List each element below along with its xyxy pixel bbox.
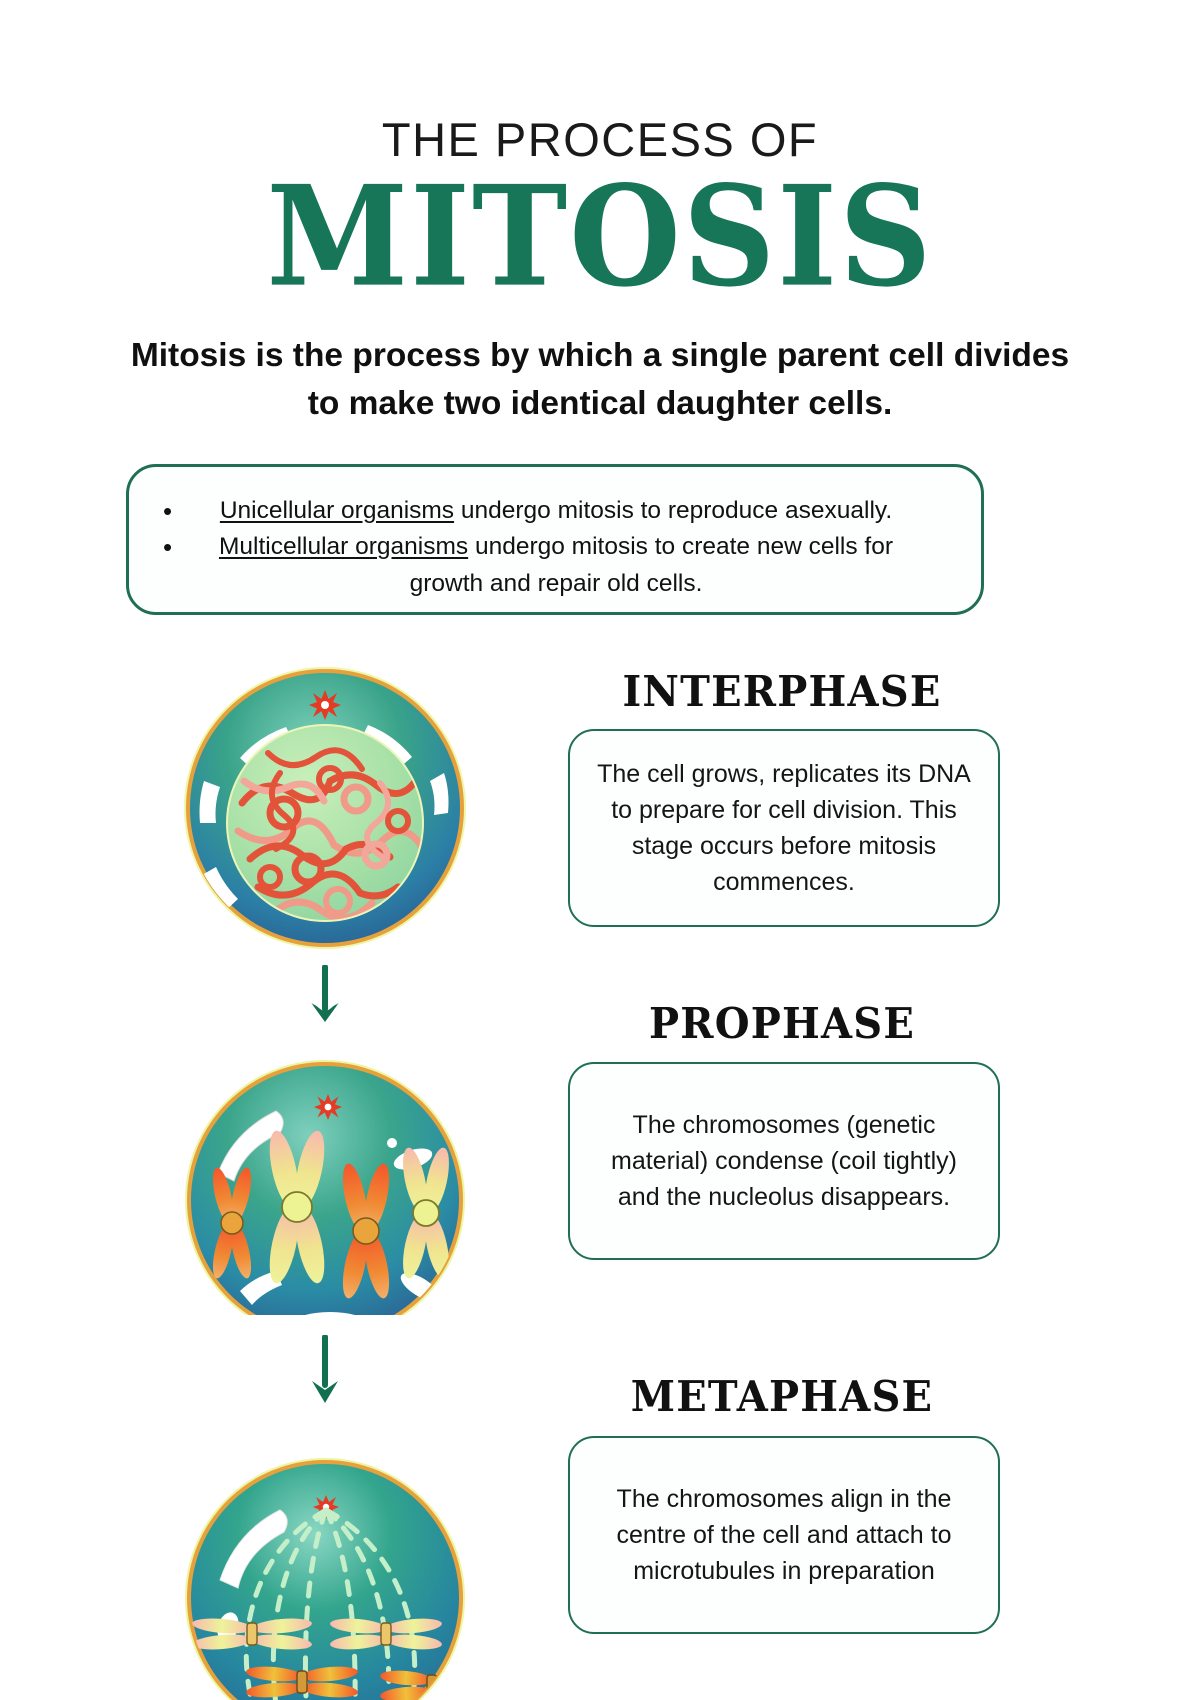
list-item-text: Multicellular organisms undergo mitosis … <box>193 529 947 602</box>
nucleolus-icon <box>314 1094 342 1120</box>
nucleolus-icon <box>309 690 341 720</box>
phase-description-prophase: The chromosomes (genetic material) conde… <box>568 1062 1000 1260</box>
arrow-down-icon <box>300 1335 350 1407</box>
infographic-page: THE PROCESS OF MITOSIS Mitosis is the pr… <box>0 0 1200 1700</box>
list-item: • Unicellular organisms undergo mitosis … <box>163 493 947 529</box>
phase-title-interphase: INTERPHASE <box>562 667 1002 717</box>
list-item-emphasis: Multicellular organisms <box>219 533 468 560</box>
bullet-marker-icon: • <box>163 493 193 529</box>
phase-description-metaphase: The chromosomes align in the centre of t… <box>568 1436 1000 1634</box>
phase-title-prophase: PROPHASE <box>562 999 1002 1049</box>
key-facts-card: • Unicellular organisms undergo mitosis … <box>126 464 984 615</box>
bullet-marker-icon: • <box>163 529 193 565</box>
list-item-emphasis: Unicellular organisms <box>220 497 454 524</box>
phase-description-text: The chromosomes (genetic material) conde… <box>570 1107 998 1215</box>
phase-description-interphase: The cell grows, replicates its DNA to pr… <box>568 729 1000 927</box>
prophase-cell-illustration <box>180 1055 470 1315</box>
list-item-rest: undergo mitosis to reproduce asexually. <box>454 497 892 524</box>
page-subtitle: Mitosis is the process by which a single… <box>120 332 1080 427</box>
phase-title-metaphase: METAPHASE <box>562 1372 1002 1422</box>
phase-description-text: The cell grows, replicates its DNA to pr… <box>570 756 998 900</box>
metaphase-cell-illustration <box>180 1412 470 1700</box>
arrow-prophase-to-metaphase <box>300 1335 350 1407</box>
key-facts-list: • Unicellular organisms undergo mitosis … <box>129 467 981 602</box>
list-item: • Multicellular organisms undergo mitosi… <box>163 529 947 602</box>
interphase-cell-illustration <box>180 663 470 953</box>
arrow-down-icon <box>300 965 350 1027</box>
list-item-text: Unicellular organisms undergo mitosis to… <box>193 493 947 529</box>
phase-description-text: The chromosomes align in the centre of t… <box>570 1481 998 1589</box>
arrow-interphase-to-prophase <box>300 965 350 1027</box>
list-item-rest: undergo mitosis to create new cells for … <box>410 533 893 596</box>
page-title: MITOSIS <box>0 168 1200 306</box>
